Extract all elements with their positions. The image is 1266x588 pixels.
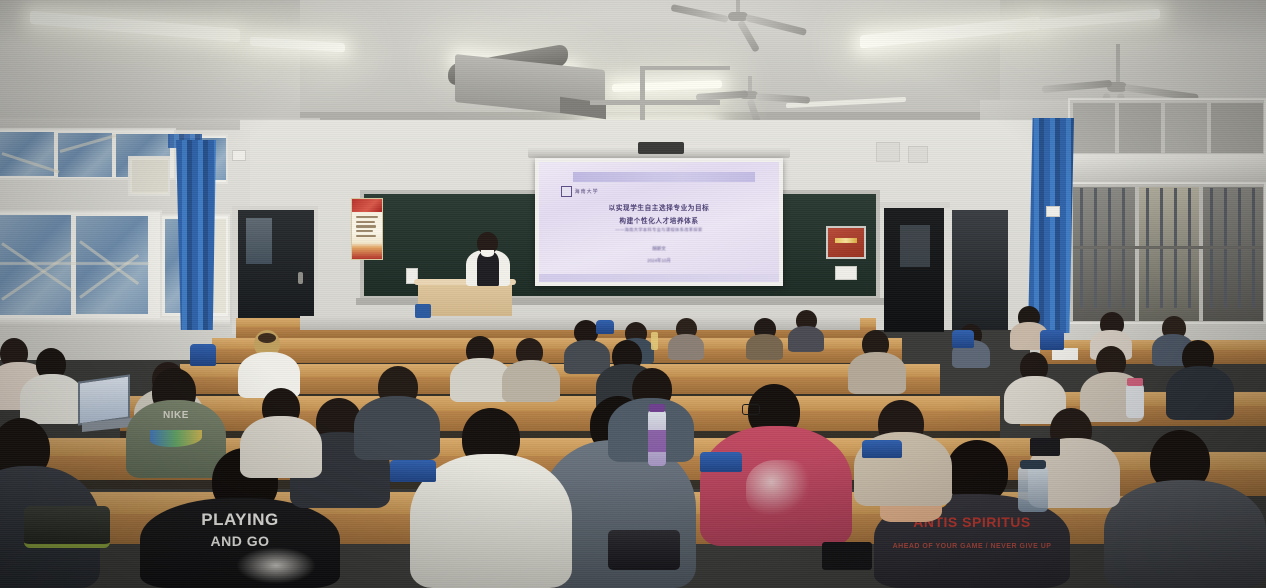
chair[interactable]	[596, 320, 614, 334]
wall-plaque-right	[826, 226, 866, 259]
shirt-graphic-art	[236, 547, 316, 585]
chair[interactable]	[1040, 330, 1064, 350]
chair[interactable]	[190, 344, 216, 366]
wastebasket	[415, 304, 431, 318]
wall-socket[interactable]	[232, 150, 246, 161]
window-left-main	[0, 210, 162, 320]
lecturer-vest	[477, 252, 499, 286]
plaque-gold-text	[835, 238, 857, 243]
chair[interactable]	[700, 452, 742, 472]
bottle-cap-icon	[1127, 378, 1143, 386]
student-torso	[354, 396, 440, 460]
projection-screen: 海南大学 以实现学生自主选择专业为目标 构建个性化人才培养体系 ——海南大学本科…	[535, 158, 783, 286]
ceiling-fan	[726, 0, 727, 1]
smartphone[interactable]	[1030, 438, 1060, 456]
wall-speaker	[908, 146, 928, 163]
student-torso	[240, 416, 322, 478]
student-torso	[1166, 366, 1234, 420]
bottle-label	[648, 430, 666, 452]
wall-poster-left	[351, 198, 383, 260]
poster-footer-art	[352, 243, 382, 259]
ceiling-fan	[740, 76, 741, 77]
chair[interactable]	[390, 460, 436, 482]
student-torso	[1104, 480, 1266, 588]
wall-socket[interactable]	[1046, 206, 1060, 217]
door-frame-right	[878, 202, 950, 208]
projector-arm	[640, 66, 730, 70]
slide-subtitle: ——海南大学本科专业与课程体系改革探索	[539, 227, 779, 233]
bottle-cap-icon	[649, 404, 665, 412]
projector-arm	[640, 68, 645, 126]
poster-banner	[352, 199, 382, 212]
ceiling-fan	[1108, 44, 1109, 45]
presentation-slide: 海南大学 以实现学生自主选择专业为目标 构建个性化人才培养体系 ——海南大学本科…	[539, 162, 779, 282]
desk-row	[120, 396, 1000, 411]
student-torso-playing: PLAYING AND GO	[140, 498, 340, 588]
window-right-main	[1068, 182, 1266, 324]
window-right-upper	[1068, 98, 1266, 156]
student-torso	[848, 352, 906, 394]
student-torso	[20, 374, 84, 424]
slide-title-line-1: 以实现学生自主选择专业为目标	[539, 202, 779, 212]
slide-presenter: 胡新文	[539, 246, 779, 252]
student-torso	[502, 360, 560, 402]
water-bottle	[651, 332, 658, 350]
wall-switch-plate[interactable]	[835, 266, 857, 280]
eyeglasses-icon	[742, 404, 760, 415]
logo-mark-icon	[561, 186, 572, 197]
pencil-case[interactable]	[608, 530, 680, 570]
classroom-photo: 海南大学 以实现学生自主选择专业为目标 构建个性化人才培养体系 ——海南大学本科…	[0, 0, 1266, 588]
chair[interactable]	[862, 440, 902, 458]
shirt-graphic-swoosh	[150, 430, 202, 447]
student-torso	[668, 334, 704, 360]
slide-date: 2024年10月	[539, 258, 779, 264]
shirt-graphic-text: NIKE	[126, 411, 226, 422]
pencil-case[interactable]	[24, 506, 110, 548]
projector-arm	[590, 100, 720, 105]
slide-university-logo: 海南大学	[561, 186, 599, 197]
student-torso	[788, 326, 824, 352]
slide-footer-band	[539, 274, 779, 282]
student-torso	[564, 340, 610, 374]
water-bottle[interactable]	[1126, 384, 1144, 418]
poster-text-lines	[356, 216, 378, 237]
student-torso-nike: NIKE	[126, 400, 226, 478]
student-torso-red	[700, 426, 852, 546]
door-opening-far-right[interactable]	[952, 210, 1008, 330]
curtain-left	[176, 140, 216, 330]
smartphone[interactable]	[822, 542, 872, 570]
water-bottle[interactable]	[1018, 466, 1048, 512]
window-lintel-right	[1062, 156, 1266, 182]
corridor-light	[900, 225, 930, 267]
student-torso	[746, 334, 783, 360]
wall-speaker	[876, 142, 900, 162]
slide-title-line-2: 构建个性化人才培养体系	[539, 215, 779, 225]
shirt-graphic-print	[746, 460, 810, 515]
lecturer-collar	[481, 250, 494, 257]
shirt-graphic-subtext: AHEAD OF YOUR GAME / NEVER GIVE UP	[874, 543, 1070, 550]
slide-logo-text: 海南大学	[575, 188, 599, 195]
door-left[interactable]	[238, 210, 314, 332]
curtain-right	[1028, 118, 1074, 333]
chair[interactable]	[952, 330, 974, 348]
shirt-graphic-text: PLAYING	[140, 511, 340, 529]
student-hair-highlight	[258, 333, 276, 343]
slide-header-band	[573, 172, 755, 183]
window-left-upper	[128, 156, 170, 196]
bottle-cap-icon	[1020, 460, 1046, 469]
screen-roller-housing	[638, 142, 684, 154]
